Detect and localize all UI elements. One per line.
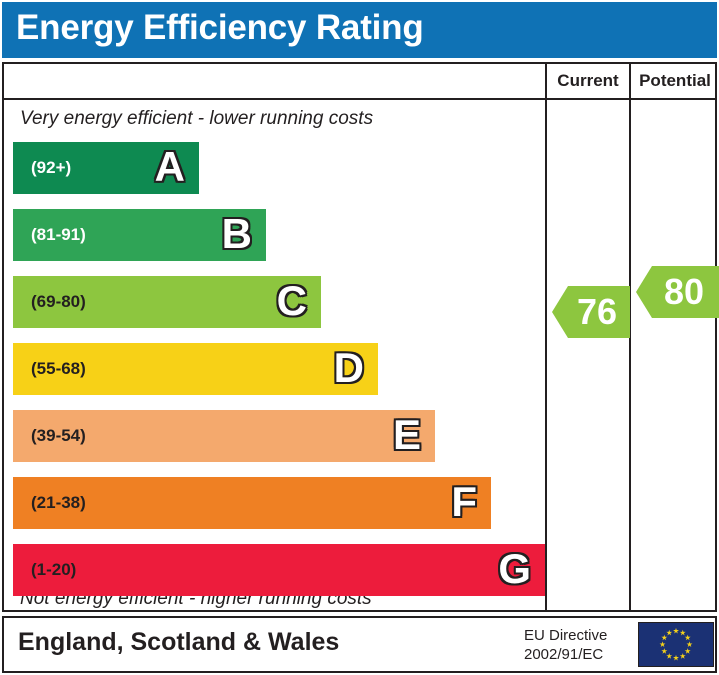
band-range-c: (69-80) <box>31 292 86 312</box>
rating-band-d: (55-68)D <box>13 343 378 395</box>
rating-table: Current Potential Very energy efficient … <box>2 62 717 612</box>
band-letter-a: A <box>155 146 185 188</box>
score-value-potential: 80 <box>652 274 704 310</box>
band-letter-d: D <box>334 347 364 389</box>
chart-footer: England, Scotland & Wales EU Directive 2… <box>2 616 717 673</box>
band-letter-f: F <box>451 481 477 523</box>
score-arrow-current: 76 <box>552 286 630 338</box>
band-range-d: (55-68) <box>31 359 86 379</box>
column-header-potential: Potential <box>631 71 719 91</box>
rating-band-g: (1-20)G <box>13 544 545 596</box>
band-range-b: (81-91) <box>31 225 86 245</box>
footer-directive: EU Directive 2002/91/EC <box>524 627 634 665</box>
rating-band-f: (21-38)F <box>13 477 491 529</box>
rating-band-a: (92+)A <box>13 142 199 194</box>
band-range-a: (92+) <box>31 158 71 178</box>
rating-band-b: (81-91)B <box>13 209 266 261</box>
score-arrow-potential: 80 <box>636 266 719 318</box>
eu-flag-icon <box>638 622 714 667</box>
band-range-g: (1-20) <box>31 560 76 580</box>
band-range-e: (39-54) <box>31 426 86 446</box>
footer-directive-line2: 2002/91/EC <box>524 646 634 665</box>
band-letter-c: C <box>277 280 307 322</box>
band-letter-b: B <box>222 213 252 255</box>
rating-band-e: (39-54)E <box>13 410 435 462</box>
band-letter-g: G <box>498 548 531 590</box>
footer-region-label: England, Scotland & Wales <box>18 628 339 657</box>
column-divider-current <box>545 64 547 610</box>
footer-directive-line1: EU Directive <box>524 627 634 646</box>
score-value-current: 76 <box>565 294 617 330</box>
column-header-current: Current <box>547 71 629 91</box>
rating-band-c: (69-80)C <box>13 276 321 328</box>
band-letter-e: E <box>393 414 421 456</box>
page-title: Energy Efficiency Rating <box>16 8 424 48</box>
rating-bands: (92+)A(81-91)B(69-80)C(55-68)D(39-54)E(2… <box>4 64 543 610</box>
chart-title-bar: Energy Efficiency Rating <box>2 2 717 58</box>
band-range-f: (21-38) <box>31 493 86 513</box>
energy-efficiency-rating-chart: Energy Efficiency Rating Current Potenti… <box>0 0 719 675</box>
